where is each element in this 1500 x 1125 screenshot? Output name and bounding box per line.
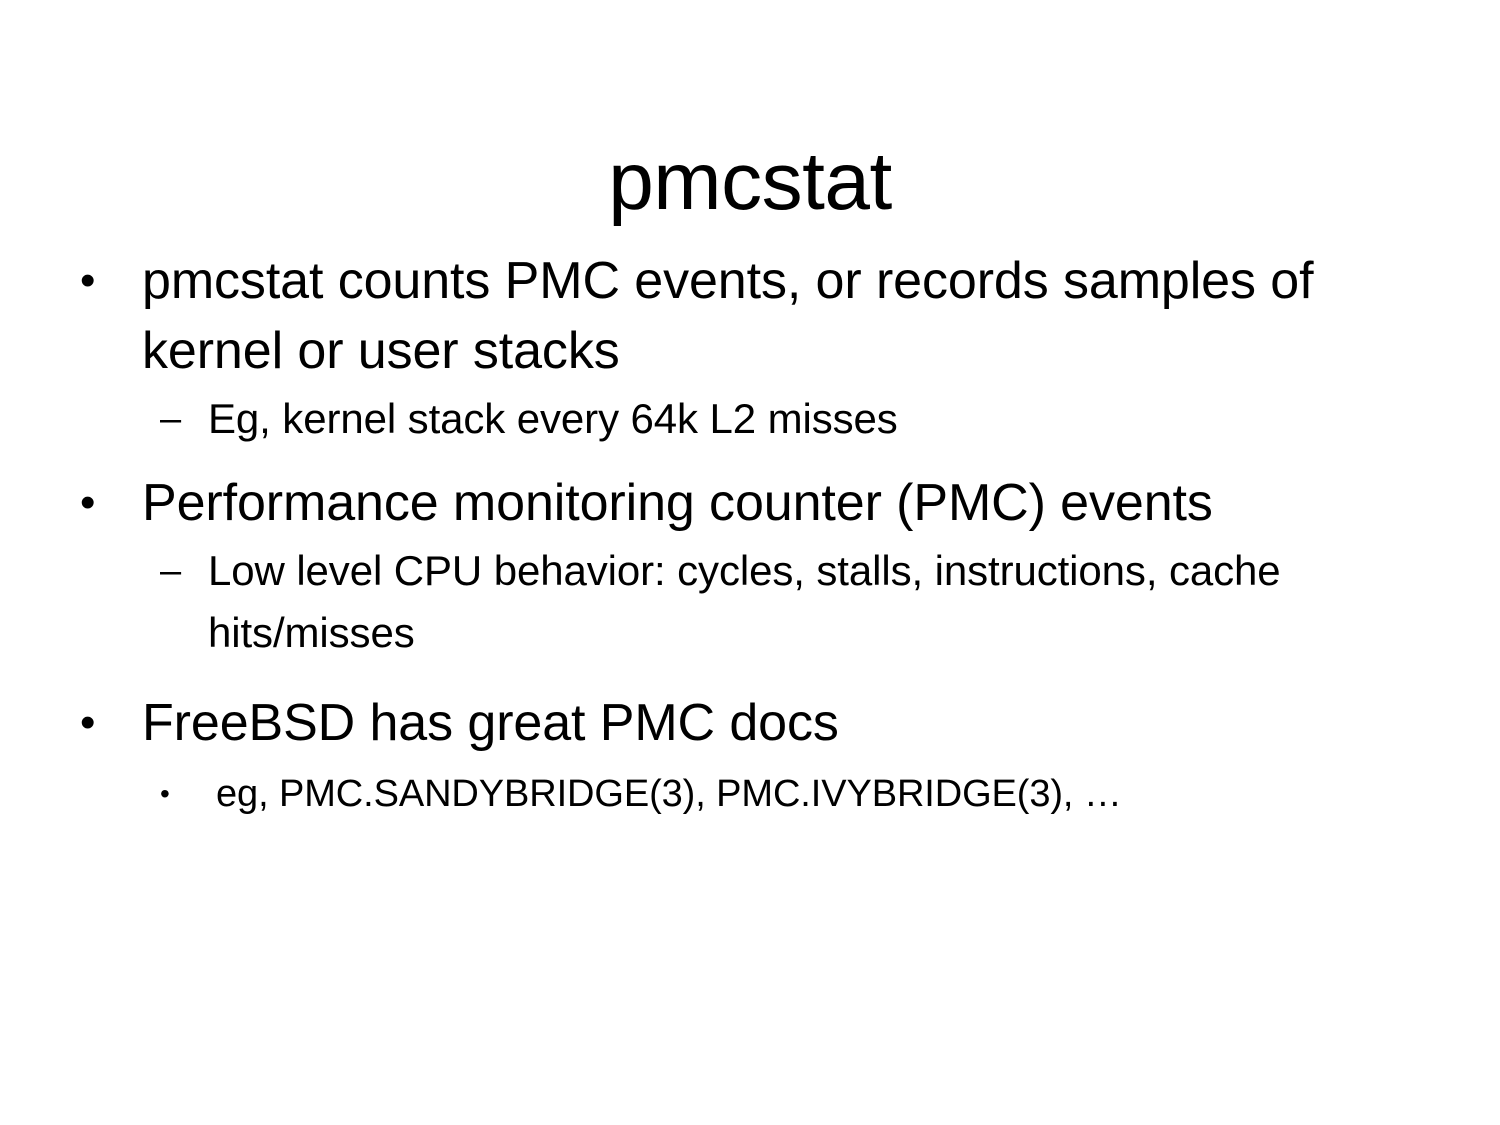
bullet-marker-dot-icon: •	[80, 688, 142, 758]
bullet-item-level1-pmcstat-counts: • pmcstat counts PMC events, or records …	[80, 246, 1420, 386]
slide-title: pmcstat	[0, 141, 1500, 223]
bullet-marker-dash-icon: –	[160, 540, 208, 602]
bullet-marker-dot-small-icon: •	[160, 766, 216, 822]
bullet-item-level3-pmc-man-pages: • eg, PMC.SANDYBRIDGE(3), PMC.IVYBRIDGE(…	[80, 766, 1420, 822]
bullet-text: FreeBSD has great PMC docs	[142, 688, 1420, 758]
bullet-marker-dot-icon: •	[80, 246, 142, 316]
bullet-text: pmcstat counts PMC events, or records sa…	[142, 246, 1420, 386]
bullet-text: Performance monitoring counter (PMC) eve…	[142, 468, 1420, 538]
presentation-slide: pmcstat • pmcstat counts PMC events, or …	[0, 0, 1500, 1125]
bullet-text: Eg, kernel stack every 64k L2 misses	[208, 388, 1420, 450]
bullet-marker-dash-icon: –	[160, 388, 208, 450]
slide-body-content: • pmcstat counts PMC events, or records …	[80, 246, 1420, 824]
bullet-item-level1-performance-monitoring: • Performance monitoring counter (PMC) e…	[80, 468, 1420, 538]
bullet-item-level2-eg-kernel-stack: – Eg, kernel stack every 64k L2 misses	[80, 388, 1420, 450]
bullet-text: Low level CPU behavior: cycles, stalls, …	[208, 540, 1420, 664]
bullet-text: eg, PMC.SANDYBRIDGE(3), PMC.IVYBRIDGE(3)…	[216, 766, 1420, 822]
bullet-item-level1-freebsd-docs: • FreeBSD has great PMC docs	[80, 688, 1420, 758]
bullet-marker-dot-icon: •	[80, 468, 142, 538]
bullet-item-level2-low-level-cpu: – Low level CPU behavior: cycles, stalls…	[80, 540, 1420, 664]
